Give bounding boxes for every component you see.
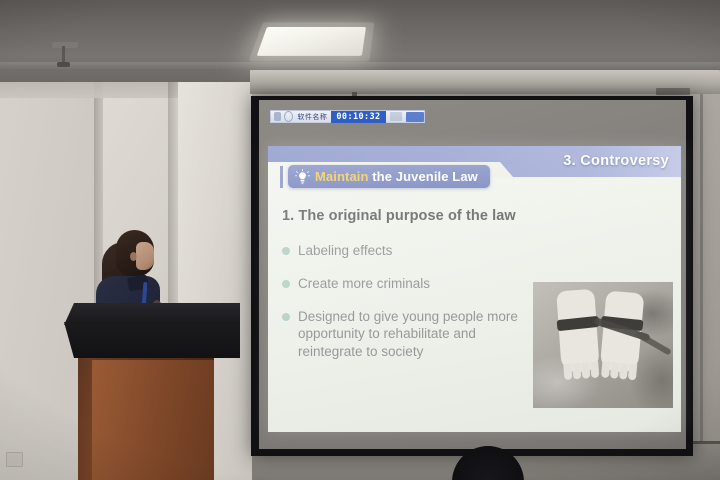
podium-front	[64, 322, 240, 358]
podium-body	[92, 356, 214, 480]
screen-brand-logo	[656, 88, 690, 95]
slide-heading: 1. The original purpose of the law	[282, 208, 516, 224]
bullet-dot-icon	[282, 247, 290, 255]
pause-button[interactable]	[390, 112, 403, 121]
slide-title-highlight: Maintain	[315, 169, 369, 184]
bullet-text: Designed to give young people more oppor…	[298, 308, 530, 361]
projection-screen-housing	[250, 70, 720, 94]
hand-left	[556, 289, 600, 373]
slide-bullet-list: Labeling effects Create more criminals D…	[282, 242, 530, 376]
slide-title-pill: Maintain the Juvenile Law	[288, 165, 490, 188]
slide-title-rest: the Juvenile Law	[369, 169, 478, 184]
bullet-text: Create more criminals	[298, 275, 430, 293]
ceiling-light-panel	[257, 27, 366, 56]
slide-title-text: Maintain the Juvenile Law	[315, 169, 478, 184]
bullet-dot-icon	[282, 280, 290, 288]
clock-icon	[284, 111, 293, 122]
presentation-timer-bar[interactable]: 软件名称 00:10:32	[270, 110, 425, 123]
slide-content: 3. Controversy Maintain the Juvenile Law…	[268, 146, 681, 432]
handcuffed-hands-photo	[533, 282, 673, 408]
ceiling-edge	[0, 62, 720, 69]
list-item: Designed to give young people more oppor…	[282, 308, 530, 361]
list-item: Create more criminals	[282, 275, 530, 293]
wall-seam-vertical	[700, 94, 703, 442]
podium-top	[64, 303, 240, 325]
slide-section-label: 3. Controversy	[563, 153, 669, 169]
sprinkler-plate	[52, 42, 78, 48]
list-item: Labeling effects	[282, 242, 530, 260]
presenter-face	[136, 242, 154, 270]
record-icon[interactable]	[274, 112, 281, 121]
presenter-ear	[130, 252, 137, 261]
stop-button[interactable]	[406, 112, 424, 122]
lecture-hall-screenshot: 软件名称 00:10:32 3. Controversy	[0, 0, 720, 480]
elapsed-time-display: 00:10:32	[331, 111, 385, 123]
lightbulb-icon	[295, 169, 310, 185]
bullet-text: Labeling effects	[298, 242, 392, 260]
sprinkler-head-icon	[57, 62, 70, 67]
wall-outlet	[6, 452, 23, 467]
bullet-dot-icon	[282, 313, 290, 321]
timer-app-label: 软件名称	[297, 112, 327, 122]
slide-title-accent-bar	[280, 166, 283, 188]
